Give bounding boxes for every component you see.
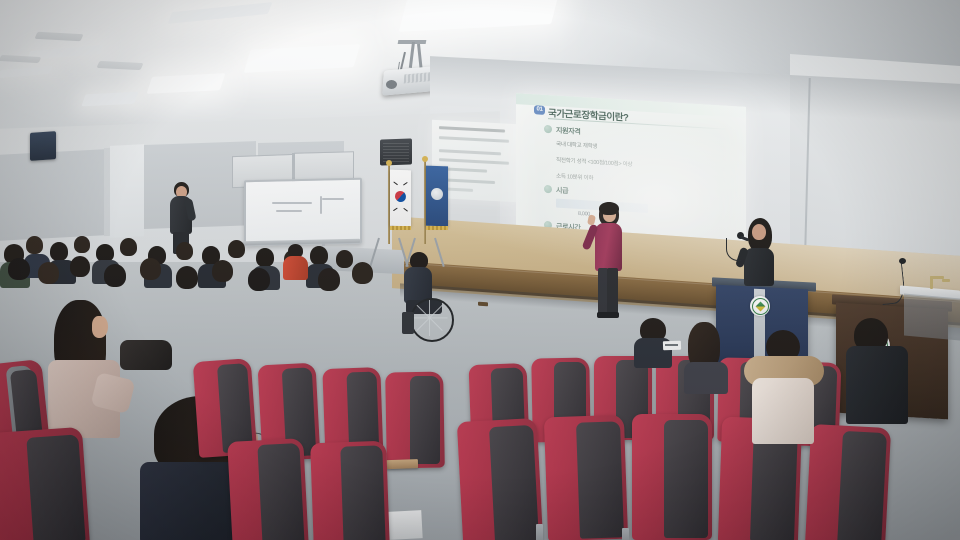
- presenter-leg-right: [607, 268, 618, 314]
- mic-speaker: [738, 218, 778, 284]
- stage-vent-plate: [478, 302, 488, 307]
- attendee-head: [176, 266, 198, 289]
- attendee-right-dark: [846, 318, 916, 428]
- speaker-grille: [383, 142, 409, 162]
- whiteboard-writing-1: [272, 202, 312, 204]
- attendee-body: [684, 362, 728, 394]
- attendee-head: [248, 268, 270, 291]
- wheelchair-frame: [402, 312, 414, 334]
- whiteboard-writing-2: [276, 210, 302, 212]
- presenter-jacket: [595, 223, 622, 271]
- trigram-4: [403, 208, 408, 212]
- seat-inner-panel: [576, 421, 624, 538]
- name-card-text: [665, 344, 678, 346]
- seat-support-leg: [536, 524, 543, 540]
- institutional-flag-fringe: [426, 226, 448, 230]
- attendee-beige-coat-face: [92, 316, 108, 338]
- national-flag-fringe: [390, 226, 411, 230]
- national-flag: [390, 170, 411, 227]
- institutional-flag-emblem: [431, 188, 443, 200]
- auditorium-scene: 01 국가근로장학금이란? 지원자격 국내 대학교 재학생 직전학기 성적 <1…: [0, 0, 960, 540]
- presenter-shoes: [597, 312, 619, 318]
- wall-speaker-left: [30, 131, 56, 161]
- institutional-flag: [426, 166, 448, 227]
- attendee-head: [8, 258, 30, 280]
- trigram-1: [393, 181, 398, 185]
- blue-podium-emblem: [750, 296, 770, 316]
- seat-inner-panel: [26, 434, 85, 540]
- mic-speaker-head: [752, 224, 766, 240]
- trigram-2: [403, 182, 408, 186]
- faucet-handle: [942, 279, 950, 282]
- attendee-head: [70, 256, 90, 277]
- seat-inner-panel: [837, 431, 887, 540]
- seat-support-leg: [622, 528, 629, 540]
- whiteboard-writing-4: [320, 196, 322, 214]
- trigram-3: [393, 208, 398, 212]
- flag-finial-left: [386, 160, 392, 166]
- attendee-head: [74, 236, 90, 253]
- attendee-head: [212, 260, 233, 282]
- attendee-head: [318, 268, 340, 291]
- presenter: [586, 202, 630, 320]
- presenter-hair-front: [599, 202, 619, 215]
- attendee-white-coat: [752, 378, 814, 444]
- attendee-front-right-b: [684, 322, 732, 394]
- seat-inner-panel: [489, 425, 539, 540]
- taegeuk-circle: [393, 189, 408, 204]
- seat-inner-panel: [257, 443, 304, 540]
- wall-panel-divider: [110, 144, 144, 238]
- podium-mic-head: [899, 258, 906, 264]
- attendee-in-wheelchair: [396, 252, 456, 340]
- wall-panel-left-1: [0, 149, 104, 240]
- whiteboard-writing-3: [322, 198, 344, 200]
- flag-finial-right: [422, 156, 428, 162]
- seat-inner-panel: [664, 420, 708, 538]
- attendee-head: [38, 262, 59, 284]
- attendee-head: [104, 264, 126, 287]
- attendee-body: [846, 346, 908, 424]
- mic-speaker-body: [744, 248, 774, 286]
- seat-inner-panel: [340, 445, 386, 540]
- attendee-fur-hood: [742, 330, 828, 448]
- attendee-head: [352, 262, 373, 284]
- attendee-head: [140, 258, 161, 280]
- projector-lens: [386, 80, 397, 89]
